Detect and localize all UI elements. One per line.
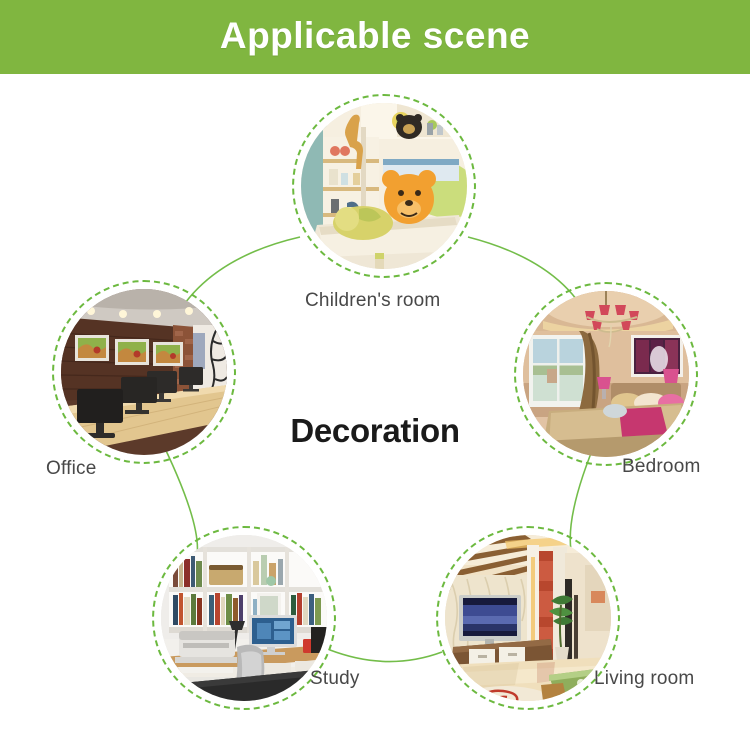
- office-photo: [61, 289, 227, 455]
- scene-label-bedroom: Bedroom: [622, 456, 701, 478]
- applicable-scene-infographic: Applicable scene Decoration: [0, 0, 750, 750]
- scene-label-study: Study: [310, 668, 360, 690]
- study-photo: [161, 535, 327, 701]
- scene-label-children: Children's room: [305, 290, 440, 312]
- scene-node-office[interactable]: [52, 280, 236, 464]
- scene-node-bedroom[interactable]: [514, 282, 698, 466]
- scene-node-living[interactable]: [436, 526, 620, 710]
- bedroom-photo: [523, 291, 689, 457]
- arc-study-living: [330, 650, 442, 662]
- children-room-photo: [301, 103, 467, 269]
- scene-node-study[interactable]: [152, 526, 336, 710]
- header-banner: Applicable scene: [0, 0, 750, 74]
- living-room-photo: [445, 535, 611, 701]
- scene-diagram: Decoration: [0, 74, 750, 750]
- scene-label-office: Office: [46, 458, 96, 480]
- page-title: Applicable scene: [0, 9, 750, 63]
- scene-node-children[interactable]: [292, 94, 476, 278]
- scene-label-living: Living room: [594, 668, 694, 690]
